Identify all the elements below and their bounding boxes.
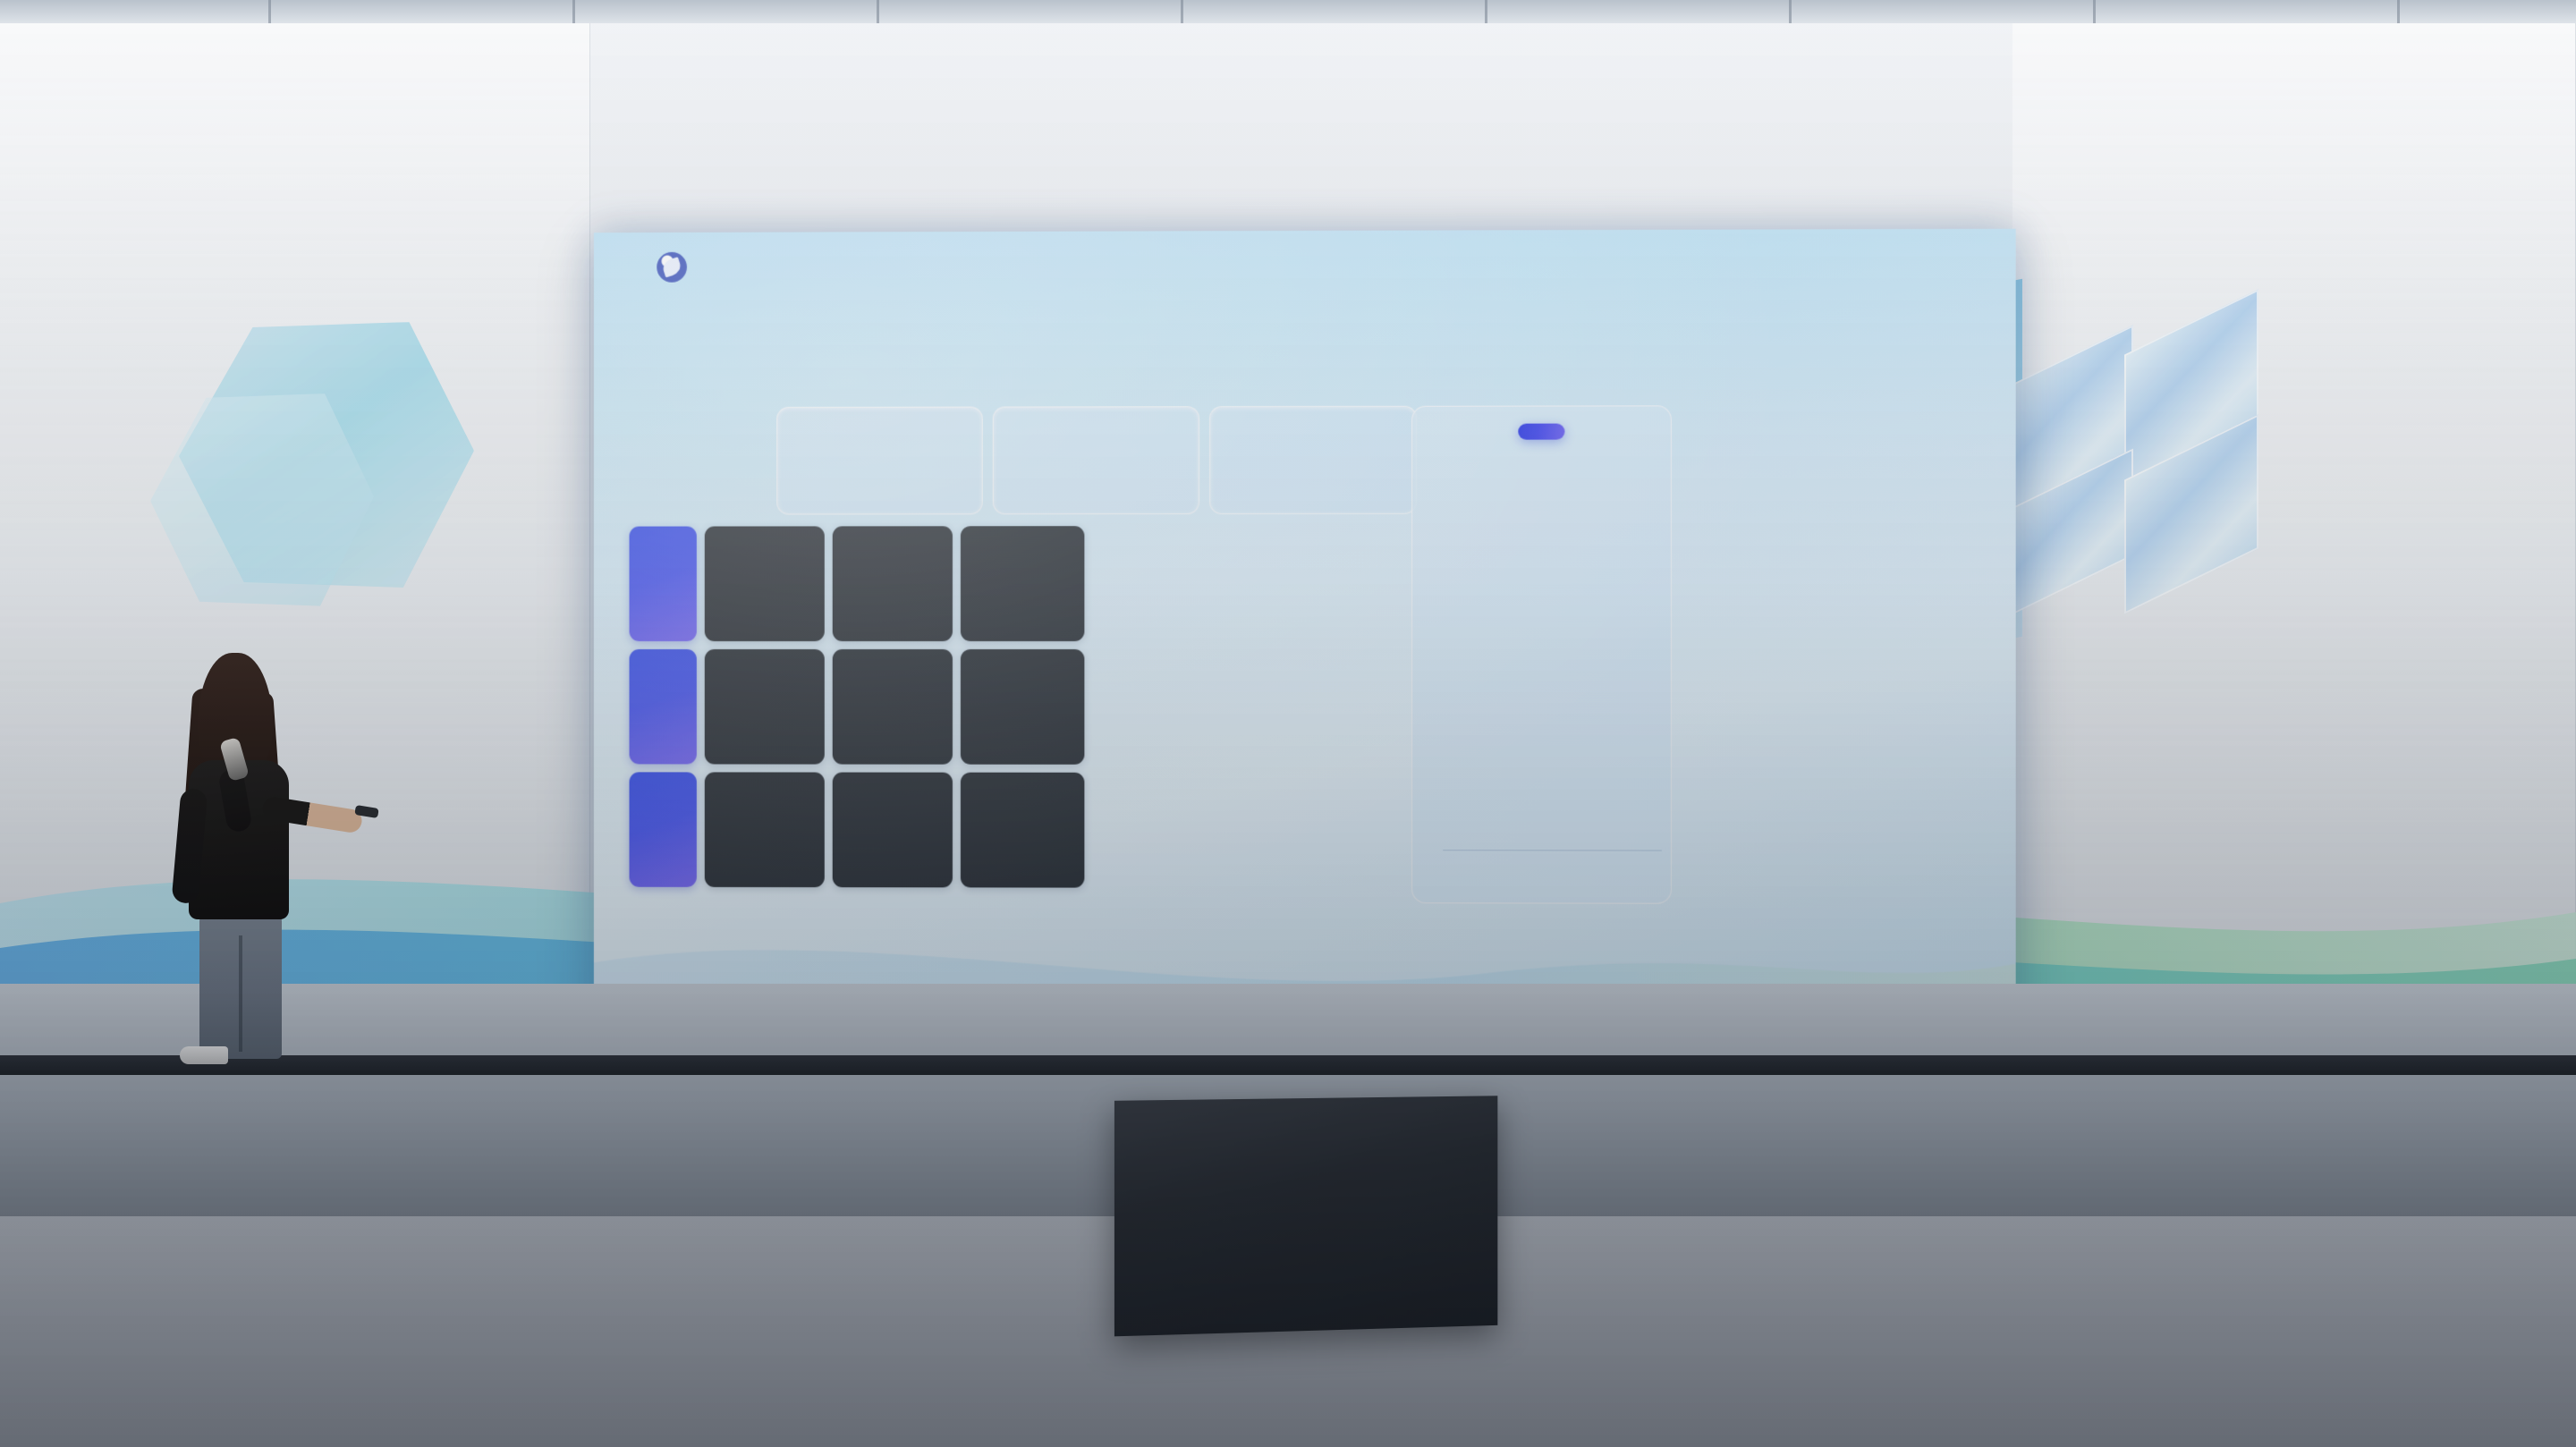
ceiling-seam: [1485, 0, 1487, 23]
row-label-banana: [630, 772, 697, 887]
prompt-card: [776, 407, 983, 515]
grid-row: [705, 772, 1085, 887]
ceiling-strip: [0, 0, 2576, 23]
partner-logo: [657, 252, 694, 283]
slide-title: [594, 284, 2016, 288]
storyboard-image[interactable]: [833, 649, 953, 765]
storyboard-image[interactable]: [961, 526, 1084, 641]
row-label-4o: [630, 649, 697, 764]
ceiling-seam: [1181, 0, 1183, 23]
storyboard-image[interactable]: [705, 526, 825, 641]
prompt-card-row: [776, 406, 1417, 515]
slide-subtitle: [594, 332, 2016, 334]
grid-row: [705, 649, 1085, 765]
grid-images: [705, 526, 1085, 887]
chart-y-axis: [1421, 466, 1441, 850]
storyboard-image[interactable]: [833, 526, 953, 641]
storyboard-comparison-grid: [630, 526, 1085, 887]
chart-bars: [1443, 466, 1662, 851]
grid-row-labels: [630, 527, 697, 887]
chart-plot-area: [1421, 466, 1664, 851]
chart-title-badge: [1518, 424, 1564, 440]
storyboard-image[interactable]: [833, 773, 953, 888]
storyboard-image[interactable]: [961, 649, 1084, 765]
ceiling-seam: [268, 0, 271, 23]
ceiling-seam: [1789, 0, 1792, 23]
storyboard-image[interactable]: [705, 649, 825, 765]
grid-row: [705, 526, 1085, 641]
prompt-card: [993, 406, 1199, 514]
ceiling-seam: [2397, 0, 2400, 23]
prompt-card: [1209, 406, 1417, 514]
slide-logo-bar: [619, 252, 694, 283]
evaluation-chart-panel: [1411, 405, 1672, 903]
apsara-logo: [619, 267, 627, 268]
ceiling-seam: [572, 0, 575, 23]
conference-room: [0, 0, 2576, 1447]
ceiling-seam: [877, 0, 879, 23]
storyboard-image[interactable]: [705, 772, 825, 887]
dolphin-icon: [657, 252, 687, 283]
ceiling-seam: [2093, 0, 2096, 23]
storyboard-image[interactable]: [961, 773, 1084, 888]
row-label-ours: [630, 527, 697, 641]
audience: [0, 930, 2576, 1447]
backdrop-cube-cluster: [1981, 322, 2321, 617]
